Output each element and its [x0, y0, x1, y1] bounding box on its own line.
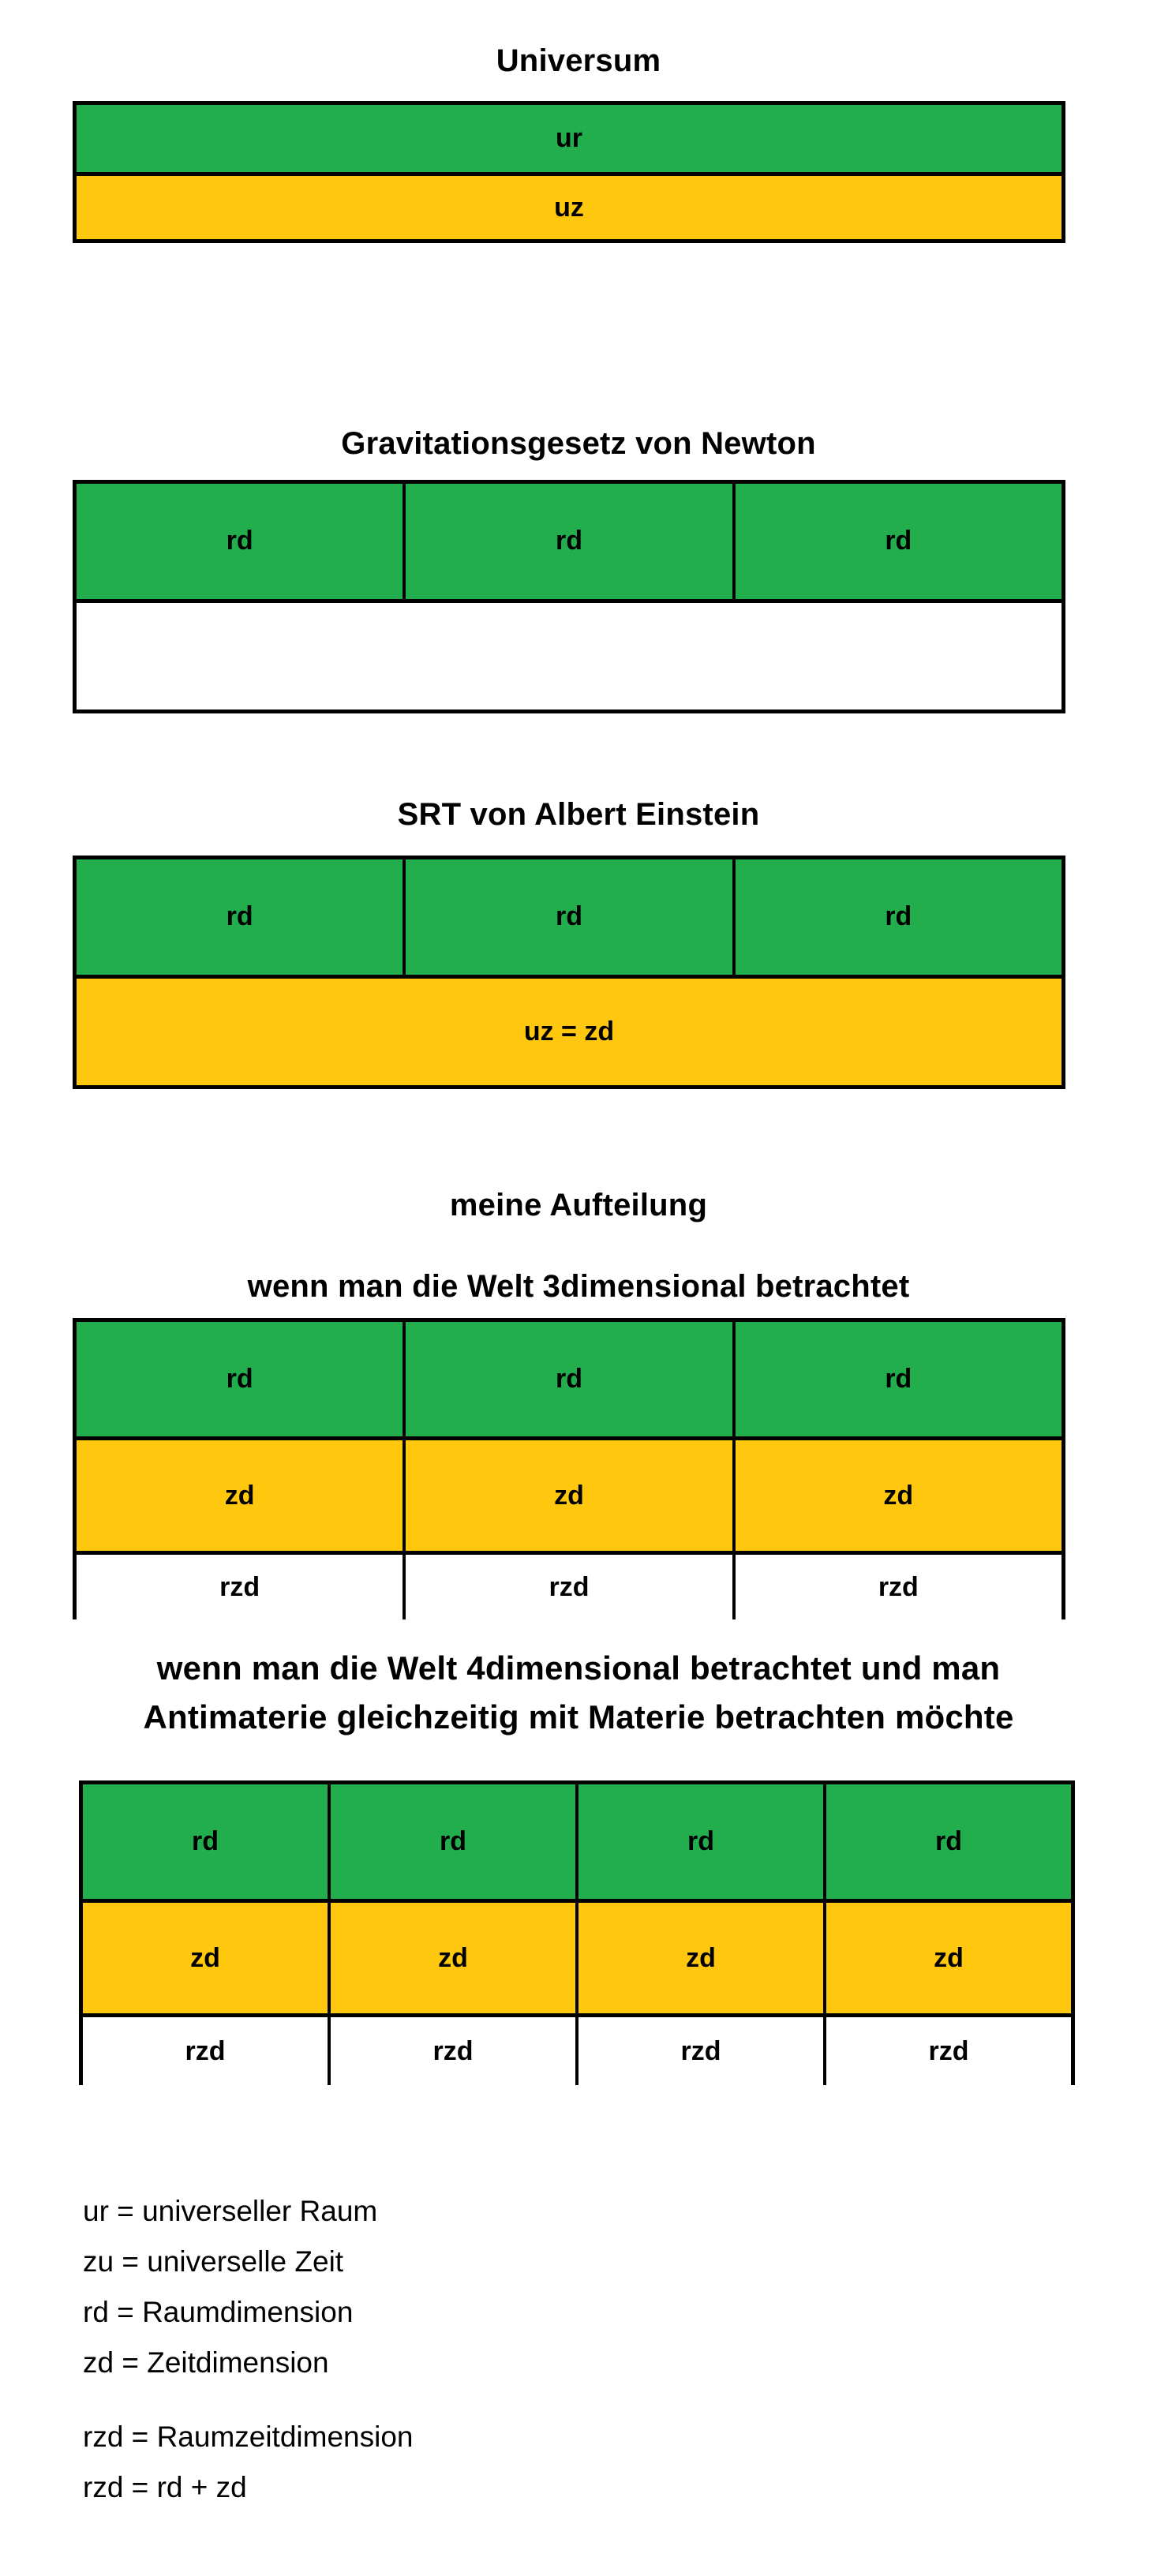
cell-rzd: rzd	[328, 2017, 575, 2085]
diagram-page: Universum ur uz Gravitationsgesetz von N…	[0, 0, 1157, 2576]
table-row: uz = zd	[77, 975, 1062, 1085]
table-3d-upper: rd rd rd zd zd zd	[73, 1318, 1065, 1555]
section-title-srt: SRT von Albert Einstein	[0, 797, 1157, 833]
legend-item-rzd-formula: rzd = rd + zd	[83, 2462, 414, 2513]
table-srt: rd rd rd uz = zd	[73, 856, 1065, 1089]
cell-rd: rd	[403, 1322, 732, 1436]
cell-rd: rd	[77, 1322, 403, 1436]
section-supertitle-meine-aufteilung: meine Aufteilung	[0, 1188, 1157, 1223]
cell-rd: rd	[77, 484, 403, 599]
cell-rzd: rzd	[83, 2017, 328, 2085]
legend-item-ur: ur = universeller Raum	[83, 2186, 414, 2237]
table-row: rd rd rd rd	[83, 1784, 1071, 1899]
legend-spacer	[83, 2388, 414, 2412]
legend-item-rzd-definition: rzd = Raumzeitdimension	[83, 2412, 414, 2462]
table-row	[77, 599, 1062, 710]
cell-empty	[77, 603, 1062, 710]
cell-uz-zd: uz = zd	[77, 979, 1062, 1085]
cell-zd: zd	[575, 1903, 823, 2013]
cell-rzd: rzd	[575, 2017, 823, 2085]
cell-rd: rd	[732, 1322, 1062, 1436]
table-row: rzd rzd rzd rzd	[83, 2017, 1071, 2085]
cell-rd: rd	[403, 859, 732, 975]
cell-zd: zd	[732, 1440, 1062, 1551]
cell-ur: ur	[77, 105, 1062, 172]
cell-zd: zd	[403, 1440, 732, 1551]
section-title-4dimensional-line1: wenn man die Welt 4dimensional betrachte…	[0, 1649, 1157, 1687]
cell-zd: zd	[83, 1903, 328, 2013]
table-universum: ur uz	[73, 101, 1065, 243]
cell-rd: rd	[77, 859, 403, 975]
section-title-newton: Gravitationsgesetz von Newton	[0, 426, 1157, 462]
table-row: zd zd zd zd	[83, 1899, 1071, 2013]
cell-rzd: rzd	[403, 1555, 732, 1619]
table-newton: rd rd rd	[73, 480, 1065, 713]
cell-rd: rd	[823, 1784, 1071, 1899]
table-4d-upper: rd rd rd rd zd zd zd zd	[79, 1780, 1075, 2017]
legend: ur = universeller Raum zu = universelle …	[83, 2186, 414, 2513]
cell-rd: rd	[328, 1784, 575, 1899]
table-row: zd zd zd	[77, 1436, 1062, 1551]
section-title-3dimensional: wenn man die Welt 3dimensional betrachte…	[0, 1269, 1157, 1305]
cell-rzd: rzd	[732, 1555, 1062, 1619]
cell-rd: rd	[732, 859, 1062, 975]
legend-item-zu: zu = universelle Zeit	[83, 2237, 414, 2287]
cell-zd: zd	[823, 1903, 1071, 2013]
table-3d-rzd-row: rzd rzd rzd	[73, 1555, 1065, 1619]
section-title-universum: Universum	[0, 43, 1157, 79]
table-row: rzd rzd rzd	[77, 1555, 1062, 1619]
cell-zd: zd	[328, 1903, 575, 2013]
cell-rd: rd	[732, 484, 1062, 599]
cell-rzd: rzd	[823, 2017, 1071, 2085]
cell-rd: rd	[403, 484, 732, 599]
cell-rd: rd	[575, 1784, 823, 1899]
table-row: rd rd rd	[77, 484, 1062, 599]
cell-uz: uz	[77, 176, 1062, 239]
table-row: ur	[77, 105, 1062, 172]
cell-rd: rd	[83, 1784, 328, 1899]
legend-item-zd: zd = Zeitdimension	[83, 2338, 414, 2388]
section-title-4dimensional-line2: Antimaterie gleichzeitig mit Materie bet…	[0, 1698, 1157, 1736]
legend-item-rd: rd = Raumdimension	[83, 2287, 414, 2338]
table-row: uz	[77, 172, 1062, 239]
table-row: rd rd rd	[77, 1322, 1062, 1436]
cell-rzd: rzd	[77, 1555, 403, 1619]
table-row: rd rd rd	[77, 859, 1062, 975]
cell-zd: zd	[77, 1440, 403, 1551]
table-4d-rzd-row: rzd rzd rzd rzd	[79, 2017, 1075, 2085]
